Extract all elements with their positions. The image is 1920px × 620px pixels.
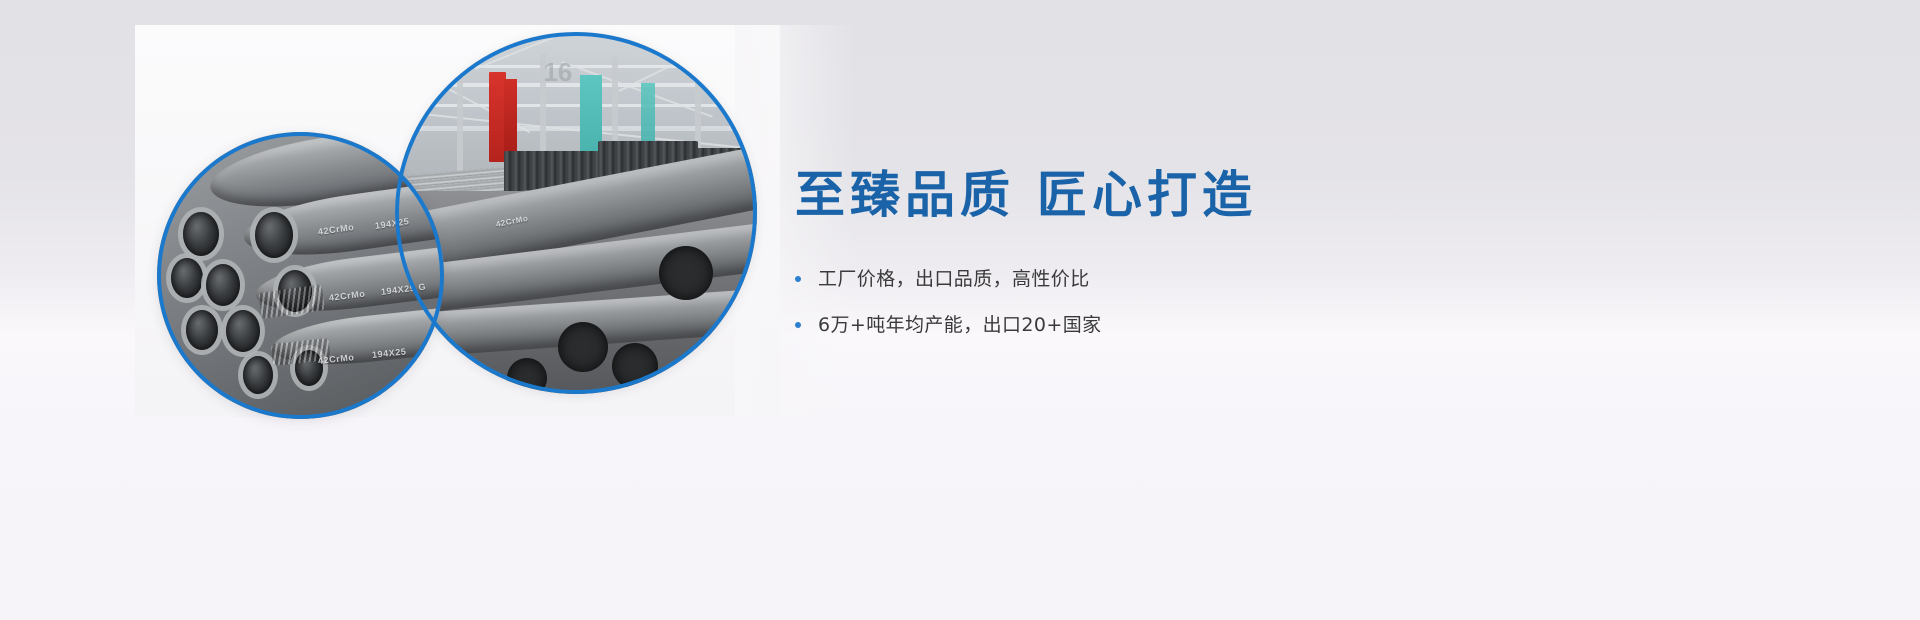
- pipe-cross-section: [699, 336, 741, 378]
- factory-photo-circle: 16 42CrMo: [395, 32, 757, 394]
- pipe-stack-scene: 42CrMo 194X25 42CrMo 194X25 G 42CrMo 194…: [157, 132, 444, 419]
- feature-list: 工厂价格，出口品质，高性价比 6万+吨年均产能，出口20+国家: [795, 265, 1495, 339]
- ceiling-truss: [395, 83, 757, 87]
- ceiling-truss: [395, 104, 757, 107]
- list-item-label: 6万+吨年均产能，出口20+国家: [818, 311, 1102, 340]
- banner-copy: 至臻品质匠心打造 工厂价格，出口品质，高性价比 6万+吨年均产能，出口20+国家: [795, 168, 1495, 356]
- factory-scene: 16 42CrMo: [395, 32, 757, 394]
- tube-bore: [226, 310, 260, 352]
- list-item-label: 工厂价格，出口品质，高性价比: [818, 265, 1090, 294]
- headline-segment-1: 至臻品质: [795, 166, 1015, 224]
- tube-bore: [243, 356, 273, 394]
- bullet-dot-icon: [795, 276, 801, 282]
- pipe-stack-photo-circle: 42CrMo 194X25 42CrMo 194X25 G 42CrMo 194…: [157, 132, 444, 419]
- headline: 至臻品质匠心打造: [795, 168, 1495, 223]
- pipe-cross-section: [659, 246, 713, 300]
- red-banner-secondary: [504, 79, 517, 157]
- bay-number-label: 16: [543, 57, 572, 88]
- tube-bore: [183, 212, 219, 256]
- structural-post: [457, 61, 463, 181]
- tube-bore: [206, 264, 240, 306]
- pipe-cross-section: [558, 322, 608, 372]
- hero-banner: 16 42CrMo: [0, 0, 1920, 620]
- list-item: 6万+吨年均产能，出口20+国家: [795, 311, 1495, 340]
- headline-segment-2: 匠心打造: [1037, 166, 1257, 224]
- tube-bore: [255, 212, 293, 258]
- tube-bore: [186, 310, 218, 350]
- bullet-dot-icon: [795, 322, 801, 328]
- pipe-cross-section: [507, 358, 547, 394]
- list-item: 工厂价格，出口品质，高性价比: [795, 265, 1495, 294]
